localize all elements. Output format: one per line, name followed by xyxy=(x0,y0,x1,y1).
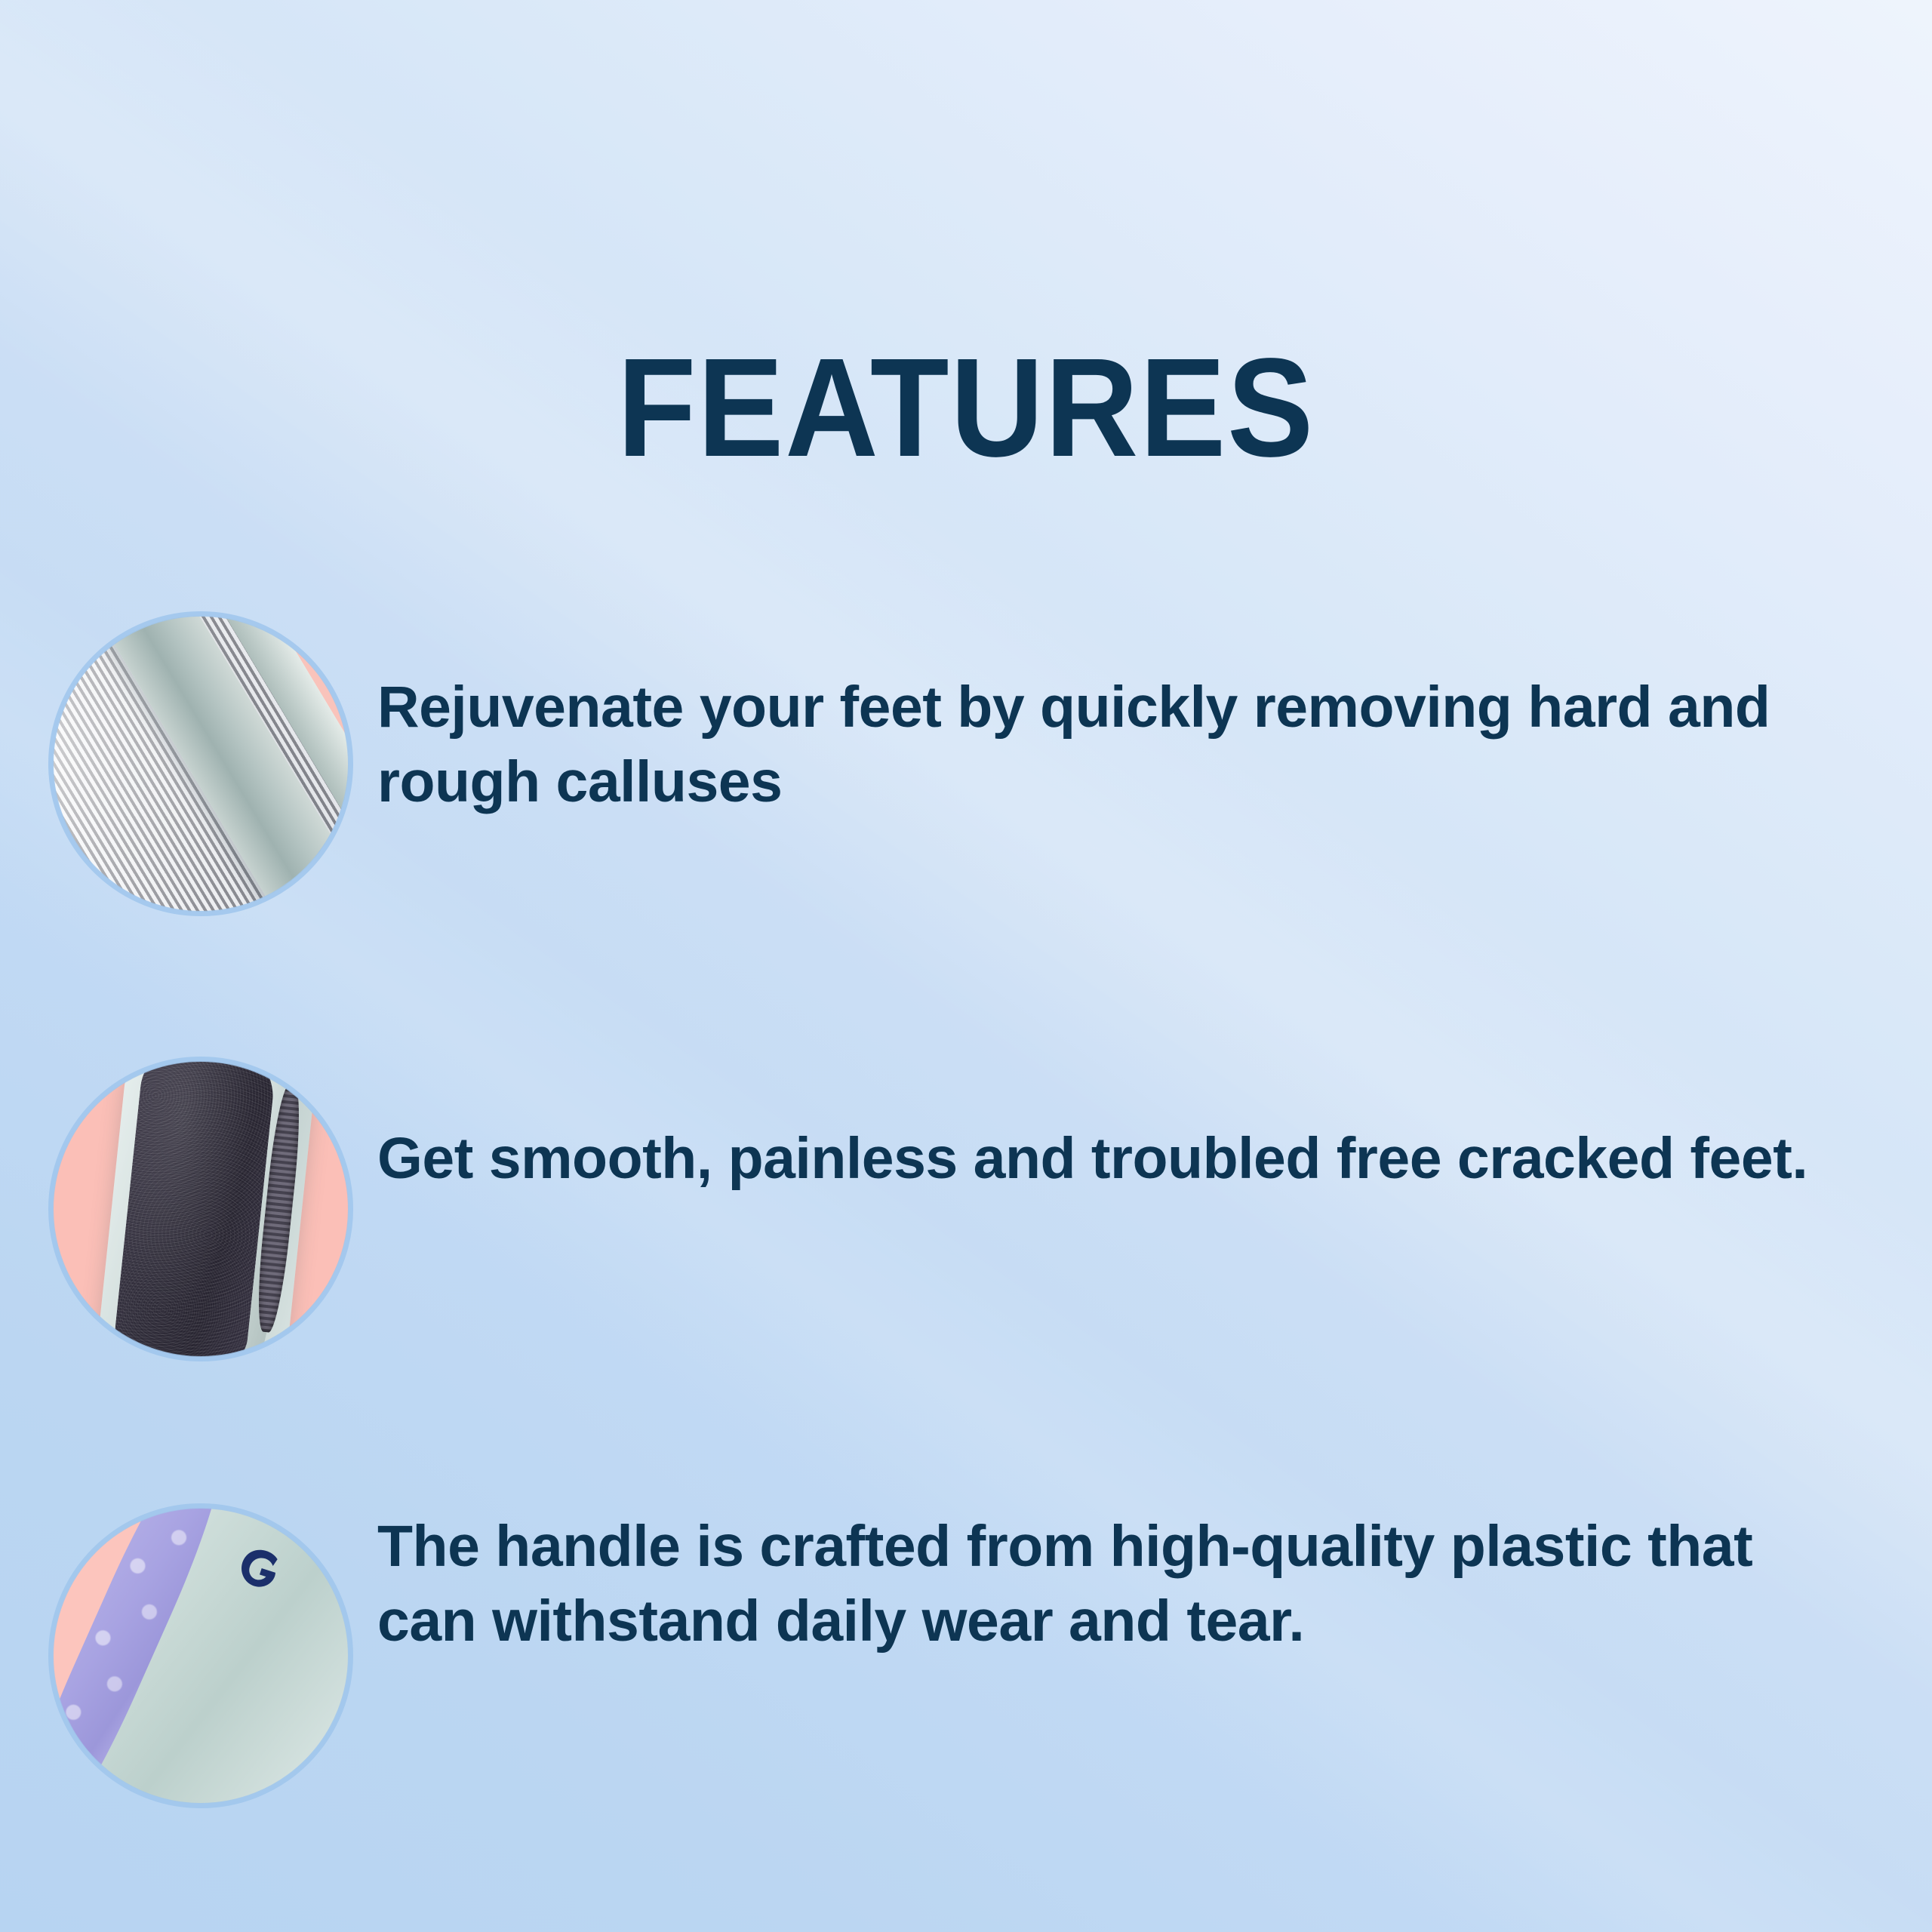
feature-row-2: Get smooth, painless and troubled free c… xyxy=(0,1057,1932,1374)
circle-ring-3 xyxy=(48,1503,353,1808)
page-title: FEATURES xyxy=(77,338,1854,478)
feature-image-1 xyxy=(48,611,353,916)
feature-row-3: The handle is crafted from high-quality … xyxy=(0,1503,1932,1820)
feature-image-2 xyxy=(48,1057,353,1361)
feature-row-1: Rejuvenate your feet by quickly removing… xyxy=(0,611,1932,928)
circle-ring-1 xyxy=(48,611,353,916)
feature-image-3 xyxy=(48,1503,353,1808)
circle-ring-2 xyxy=(48,1057,353,1361)
feature-text-3: The handle is crafted from high-quality … xyxy=(377,1509,1849,1658)
features-infographic: FEATURES Rejuvenate your feet by quickly… xyxy=(0,0,1932,1932)
feature-text-2: Get smooth, painless and troubled free c… xyxy=(377,1121,1849,1196)
feature-text-1: Rejuvenate your feet by quickly removing… xyxy=(377,670,1849,819)
